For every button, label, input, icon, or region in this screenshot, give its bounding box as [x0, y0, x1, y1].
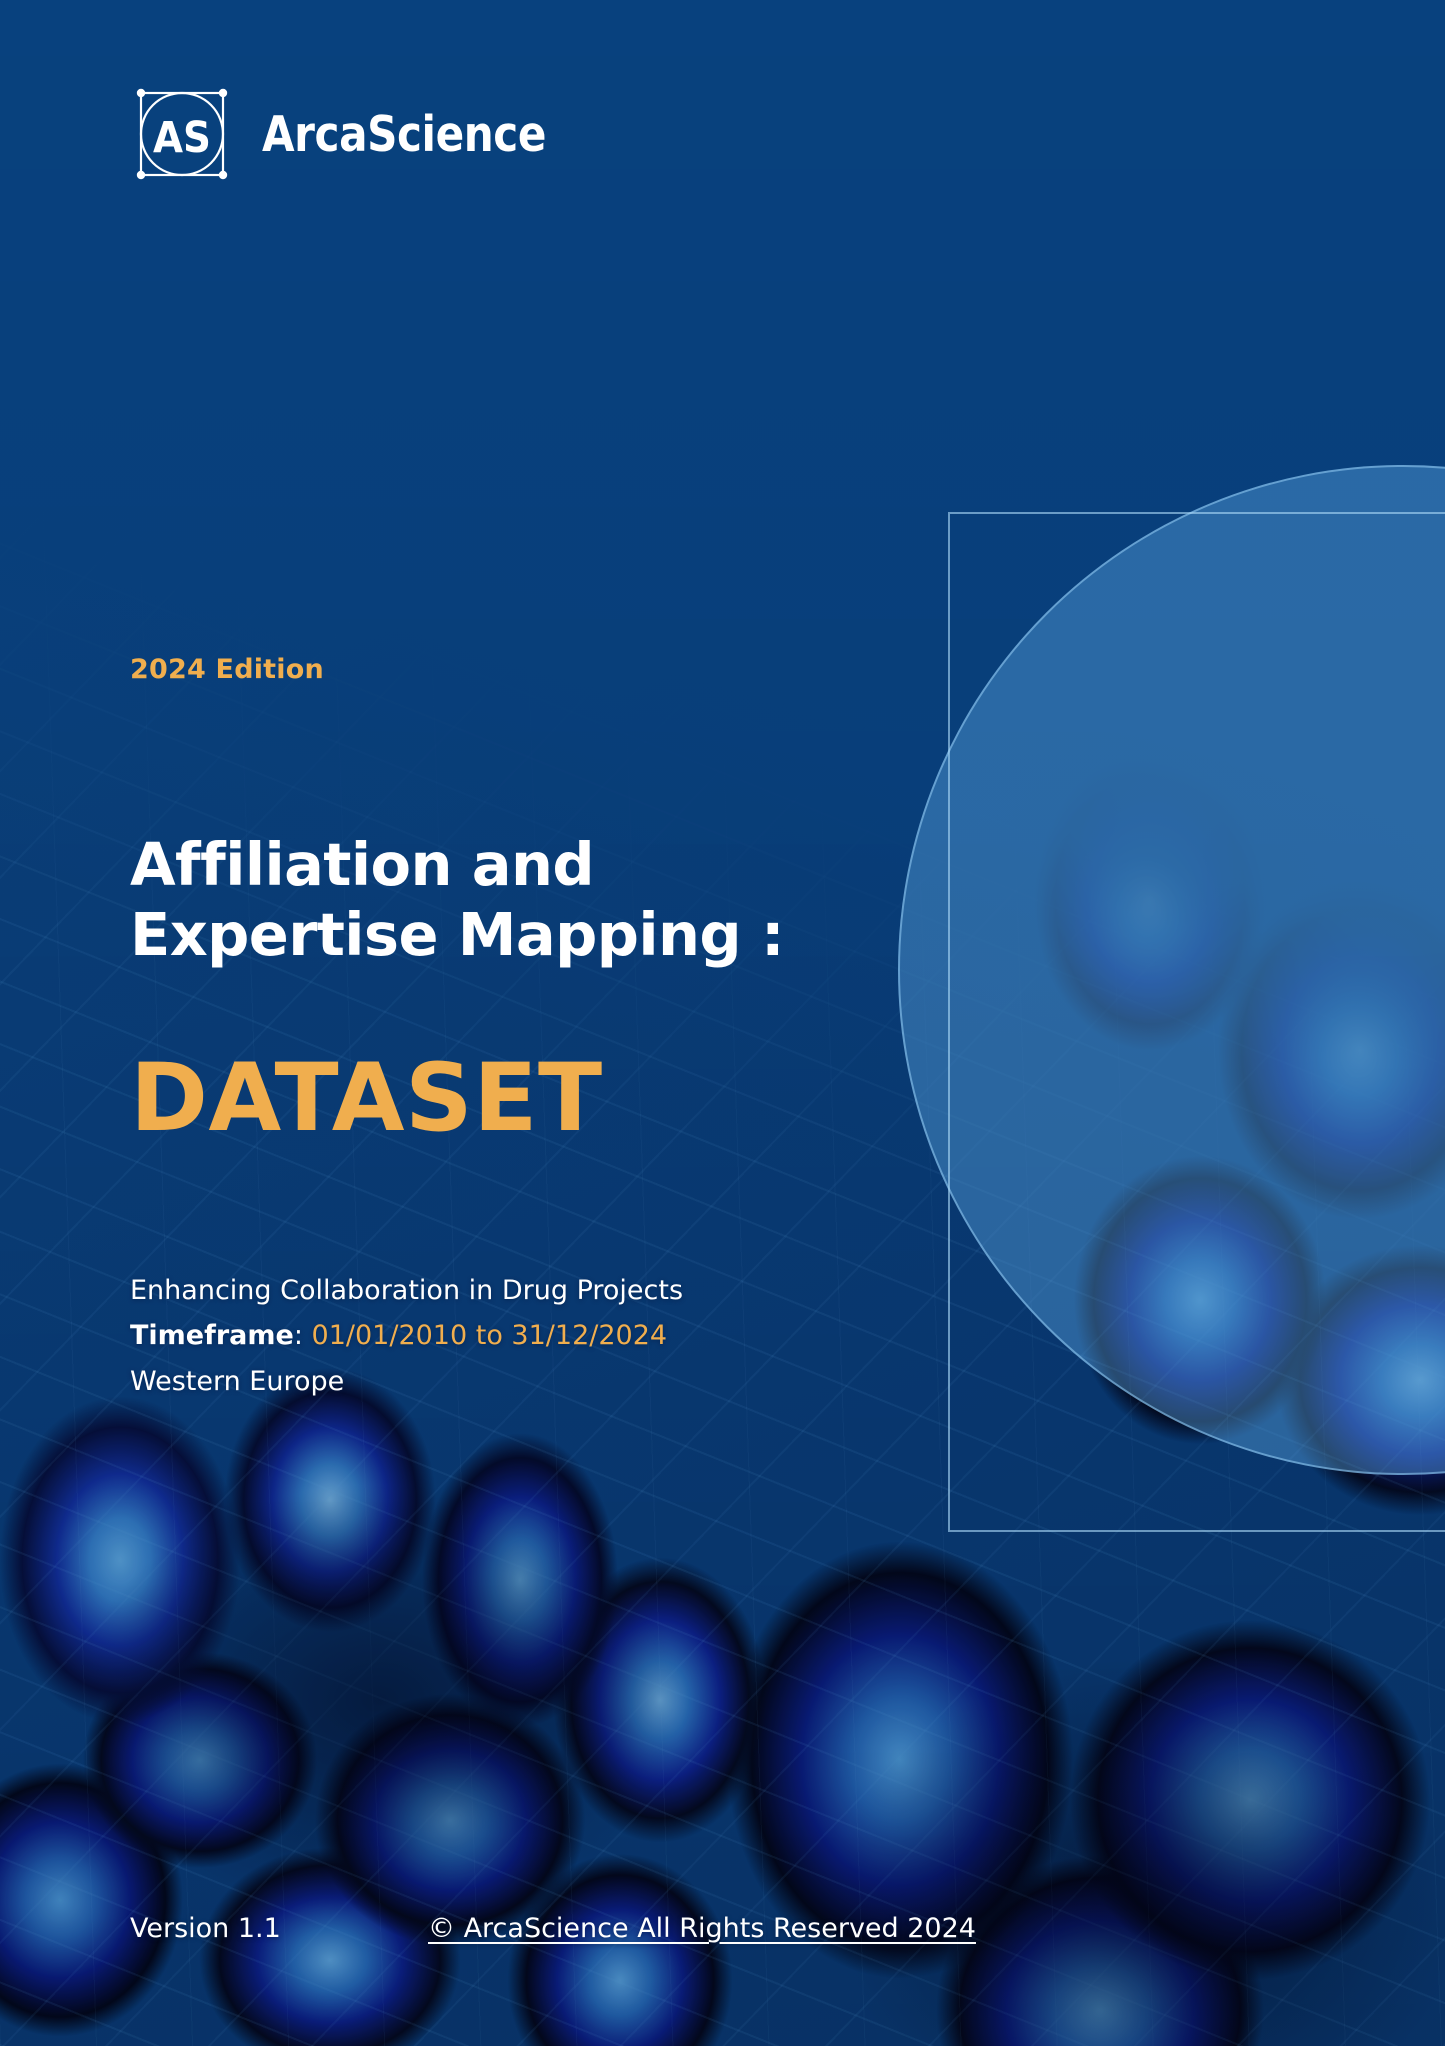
page-title-line-2: Expertise Mapping : — [130, 900, 784, 970]
subtitle-text: Enhancing Collaboration in Drug Projects — [130, 1268, 683, 1313]
region-text: Western Europe — [130, 1359, 683, 1404]
arcascience-logo-icon: AS — [128, 80, 236, 188]
timeframe-value: 01/01/2010 to 31/12/2024 — [312, 1320, 668, 1351]
page-title: Affiliation and Expertise Mapping : — [130, 830, 784, 969]
cover-metadata: Enhancing Collaboration in Drug Projects… — [130, 1268, 683, 1404]
brand-wordmark: ArcaScience — [262, 106, 546, 163]
copyright-link[interactable]: © ArcaScience All Rights Reserved 2024 — [428, 1913, 976, 1944]
document-cover: AS ArcaScience 2024 Edition Affiliation … — [0, 0, 1445, 2046]
timeframe-separator: : — [294, 1320, 312, 1351]
brand-logo: AS ArcaScience — [128, 80, 592, 188]
decorative-rectangle — [948, 512, 1445, 1532]
timeframe-label: Timeframe — [130, 1320, 294, 1351]
page-title-line-1: Affiliation and — [130, 830, 784, 900]
edition-label: 2024 Edition — [130, 654, 324, 685]
timeframe-row: Timeframe: 01/01/2010 to 31/12/2024 — [130, 1313, 683, 1358]
document-type-heading: DATASET — [130, 1052, 603, 1146]
version-label: Version 1.1 — [130, 1913, 281, 1944]
svg-text:AS: AS — [153, 113, 211, 163]
